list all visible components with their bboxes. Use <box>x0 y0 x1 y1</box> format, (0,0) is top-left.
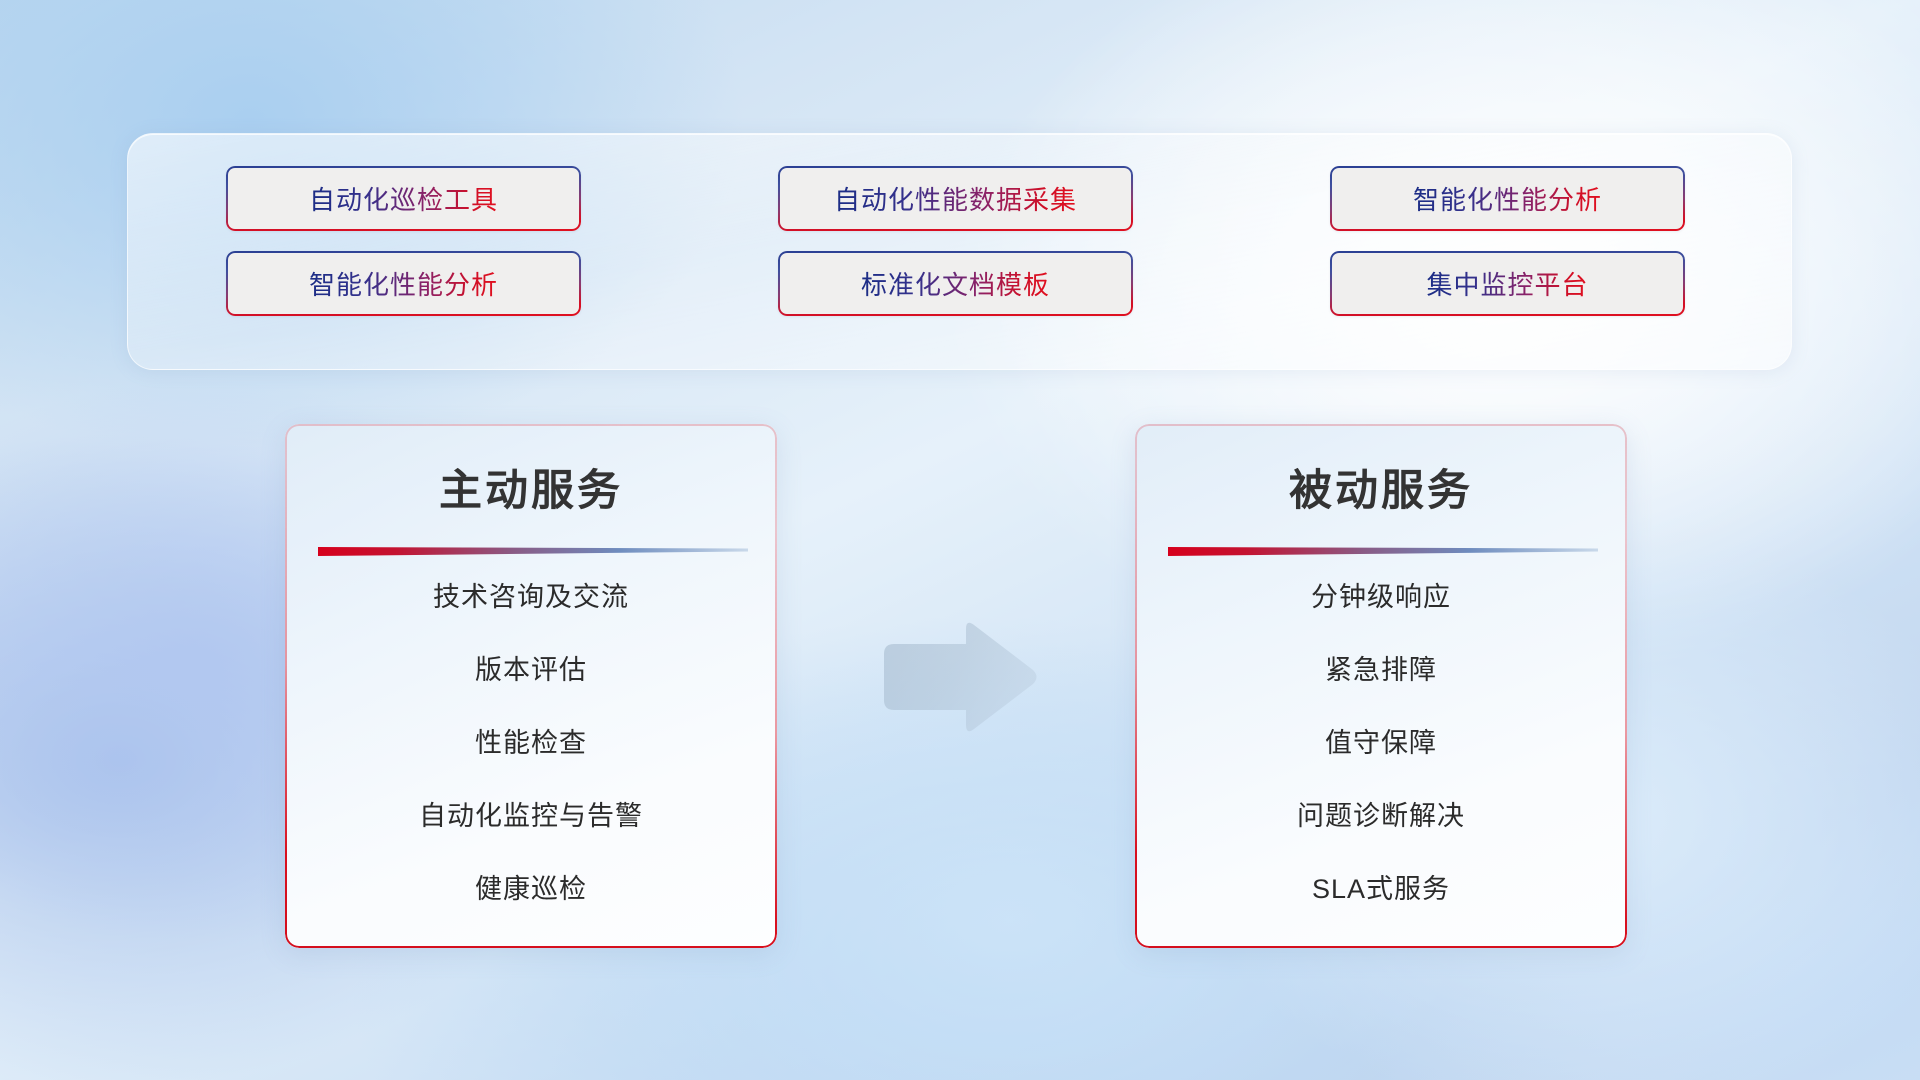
service-card-list: 分钟级响应 紧急排障 值守保障 问题诊断解决 SLA式服务 <box>1135 584 1627 903</box>
service-card-title: 主动服务 <box>285 456 777 518</box>
list-item: 健康巡检 <box>475 876 587 903</box>
service-card-list: 技术咨询及交流 版本评估 性能检查 自动化监控与告警 健康巡检 <box>285 584 777 903</box>
list-item: 技术咨询及交流 <box>433 584 629 611</box>
list-item: 紧急排障 <box>1325 657 1437 684</box>
slide-canvas: 自动化巡检工具 自动化性能数据采集 智能化性能分析 智能化性能分析 标准化文档模… <box>0 0 1920 1080</box>
right-arrow-icon <box>878 618 1040 736</box>
capability-pill-2[interactable]: 自动化性能数据采集 <box>778 166 1133 231</box>
capability-pill-label: 智能化性能分析 <box>1413 180 1602 217</box>
capability-pill-label: 自动化性能数据采集 <box>834 180 1077 217</box>
card-divider-gradient <box>1168 544 1598 558</box>
capability-pill-label: 标准化文档模板 <box>861 265 1050 302</box>
service-card-title: 被动服务 <box>1135 456 1627 518</box>
service-card-proactive[interactable]: 主动服务 技术咨询及交流 版本评估 性能检查 自动化监控与告警 <box>285 424 777 948</box>
capability-panel: 自动化巡检工具 自动化性能数据采集 智能化性能分析 智能化性能分析 标准化文档模… <box>127 133 1792 370</box>
list-item: 自动化监控与告警 <box>419 803 643 830</box>
capability-pill-5[interactable]: 标准化文档模板 <box>778 251 1133 316</box>
capability-pill-4[interactable]: 智能化性能分析 <box>226 251 581 316</box>
capability-pill-1[interactable]: 自动化巡检工具 <box>226 166 581 231</box>
list-item: 分钟级响应 <box>1311 584 1451 611</box>
list-item: 版本评估 <box>475 657 587 684</box>
list-item: 性能检查 <box>475 730 587 757</box>
capability-pill-label: 自动化巡检工具 <box>309 180 498 217</box>
service-card-reactive[interactable]: 被动服务 分钟级响应 紧急排障 值守保障 问题诊断解决 <box>1135 424 1627 948</box>
capability-pill-3[interactable]: 智能化性能分析 <box>1330 166 1685 231</box>
capability-pill-grid: 自动化巡检工具 自动化性能数据采集 智能化性能分析 智能化性能分析 标准化文档模… <box>226 166 1696 316</box>
capability-pill-label: 集中监控平台 <box>1426 265 1588 302</box>
list-item: 问题诊断解决 <box>1297 803 1465 830</box>
capability-pill-label: 智能化性能分析 <box>309 265 498 302</box>
card-divider-gradient <box>318 544 748 558</box>
list-item: 值守保障 <box>1325 730 1437 757</box>
capability-pill-6[interactable]: 集中监控平台 <box>1330 251 1685 316</box>
list-item: SLA式服务 <box>1312 876 1450 903</box>
